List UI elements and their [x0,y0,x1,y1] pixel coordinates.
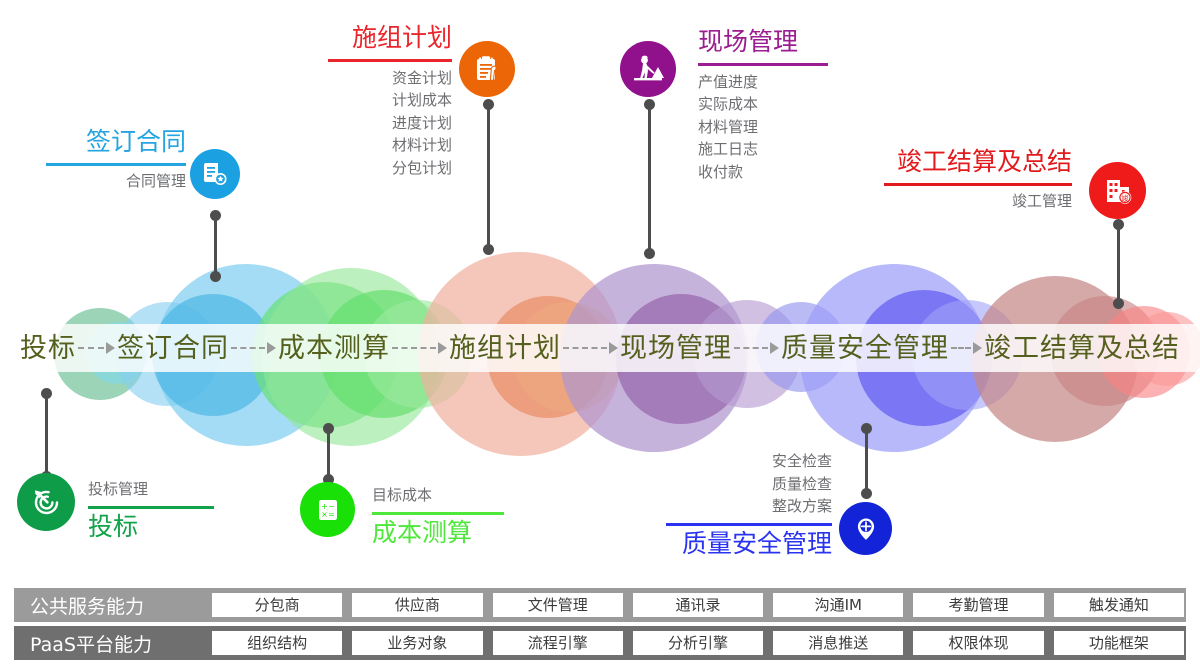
svg-text:=: = [328,510,335,519]
flow-arrow-3 [392,342,447,354]
callout-plan-rule [328,59,452,62]
capability-tag[interactable]: 消息推送 [773,631,903,655]
callout-item: 安全检查 [666,450,832,473]
callout-contract-title: 签订合同 [46,128,186,157]
callout-item: 质量检查 [666,473,832,496]
svg-text:×: × [321,510,328,519]
flow-stage-site[interactable]: 现场管理 [620,335,732,362]
callout-completion[interactable]: 竣工结算及总结 竣工管理 [884,148,1072,212]
capability-row-public: 公共服务能力 分包商 供应商 文件管理 通讯录 沟通IM 考勤管理 触发通知 [14,588,1186,622]
capability-tag[interactable]: 触发通知 [1054,593,1184,617]
flow-arrow-1 [78,342,115,354]
capability-row-paas-label: PaaS平台能力 [16,630,212,657]
capability-tag[interactable]: 通讯录 [633,593,763,617]
leader-line-contract [214,215,217,277]
callout-completion-rule [884,183,1072,186]
callout-bidding-rule [88,506,214,509]
callout-bidding[interactable]: 投标管理 投标 [88,478,214,541]
building-seal-icon[interactable]: 竣 [1089,162,1146,219]
callout-contract[interactable]: 签订合同 合同管理 [46,128,186,192]
capability-tag[interactable]: 功能框架 [1054,631,1184,655]
capability-row-public-label: 公共服务能力 [16,592,212,619]
callout-contract-rule [46,163,186,166]
leader-line-bidding [45,393,48,477]
flow-arrow-2 [231,342,276,354]
map-pin-cross-icon[interactable] [839,502,892,555]
capability-bars: 公共服务能力 分包商 供应商 文件管理 通讯录 沟通IM 考勤管理 触发通知 P… [14,588,1186,664]
flow-arrow-5 [734,342,779,354]
contract-document-icon[interactable] [190,149,240,199]
callout-plan[interactable]: 施组计划 资金计划 计划成本 进度计划 材料计划 分包计划 [328,24,452,179]
callout-quality-title: 质量安全管理 [666,530,832,559]
leader-line-completion [1117,224,1120,304]
callout-item: 进度计划 [328,112,452,135]
capability-tag[interactable]: 考勤管理 [913,593,1043,617]
callout-site-rule [698,63,828,66]
capability-tag[interactable]: 分析引擎 [633,631,763,655]
callout-item: 施工日志 [698,138,828,161]
flow-stage-contract[interactable]: 签订合同 [117,335,229,362]
callout-item: 产值进度 [698,71,828,94]
calculator-icon[interactable]: + − × = [300,482,355,537]
capability-tag[interactable]: 供应商 [352,593,482,617]
callout-item: 合同管理 [46,170,186,193]
leader-line-site [648,104,651,254]
capability-tag[interactable]: 沟通IM [773,593,903,617]
callout-plan-title: 施组计划 [328,24,452,53]
flow-stage-plan[interactable]: 施组计划 [449,335,561,362]
capability-tag[interactable]: 组织结构 [212,631,342,655]
leader-line-cost [327,428,330,480]
leader-line-plan [487,104,490,250]
callout-item: 实际成本 [698,93,828,116]
callout-contract-items: 合同管理 [46,170,186,193]
callout-site[interactable]: 现场管理 产值进度 实际成本 材料管理 施工日志 收付款 [698,28,828,183]
target-dart-icon[interactable] [17,473,75,531]
construction-worker-icon[interactable] [620,41,676,97]
callout-item: 投标管理 [88,478,214,501]
callout-site-items: 产值进度 实际成本 材料管理 施工日志 收付款 [698,71,828,184]
callout-item: 计划成本 [328,89,452,112]
process-flow-band: 投标 签订合同 成本测算 施组计划 现场管理 质量安全管理 竣工结算及总结 [0,324,1200,372]
svg-text:竣: 竣 [1121,194,1129,203]
callout-item: 竣工管理 [884,190,1072,213]
callout-item: 收付款 [698,161,828,184]
callout-quality[interactable]: 安全检查 质量检查 整改方案 质量安全管理 [666,450,832,558]
capability-tag[interactable]: 流程引擎 [493,631,623,655]
callout-item: 材料管理 [698,116,828,139]
callout-site-title: 现场管理 [698,28,828,57]
flow-arrow-4 [563,342,618,354]
callout-quality-rule [666,523,832,526]
capability-tag[interactable]: 权限体现 [913,631,1043,655]
callout-bidding-items: 投标管理 [88,478,214,501]
flow-stage-cost[interactable]: 成本测算 [278,335,390,362]
flow-stage-bidding[interactable]: 投标 [20,335,76,362]
callout-plan-items: 资金计划 计划成本 进度计划 材料计划 分包计划 [328,67,452,180]
callout-quality-items: 安全检查 质量检查 整改方案 [666,450,832,518]
capability-row-public-tags: 分包商 供应商 文件管理 通讯录 沟通IM 考勤管理 触发通知 [212,593,1184,617]
capability-tag[interactable]: 业务对象 [352,631,482,655]
callout-cost[interactable]: 目标成本 成本测算 [372,484,504,547]
callout-completion-items: 竣工管理 [884,190,1072,213]
flow-arrow-6 [951,342,982,354]
callout-item: 目标成本 [372,484,504,507]
callout-item: 分包计划 [328,157,452,180]
clipboard-wrench-icon[interactable] [459,41,515,97]
capability-row-paas: PaaS平台能力 组织结构 业务对象 流程引擎 分析引擎 消息推送 权限体现 功… [14,626,1186,660]
leader-line-quality [865,428,868,494]
callout-cost-title: 成本测算 [372,519,504,548]
capability-tag[interactable]: 分包商 [212,593,342,617]
callout-item: 资金计划 [328,67,452,90]
callout-bidding-title: 投标 [88,513,214,542]
flow-stage-completion[interactable]: 竣工结算及总结 [984,335,1180,362]
callout-item: 材料计划 [328,134,452,157]
flow-stage-quality[interactable]: 质量安全管理 [781,335,949,362]
capability-tag[interactable]: 文件管理 [493,593,623,617]
callout-completion-title: 竣工结算及总结 [884,148,1072,177]
callout-item: 整改方案 [666,495,832,518]
callout-cost-rule [372,512,504,515]
callout-cost-items: 目标成本 [372,484,504,507]
capability-row-paas-tags: 组织结构 业务对象 流程引擎 分析引擎 消息推送 权限体现 功能框架 [212,631,1184,655]
